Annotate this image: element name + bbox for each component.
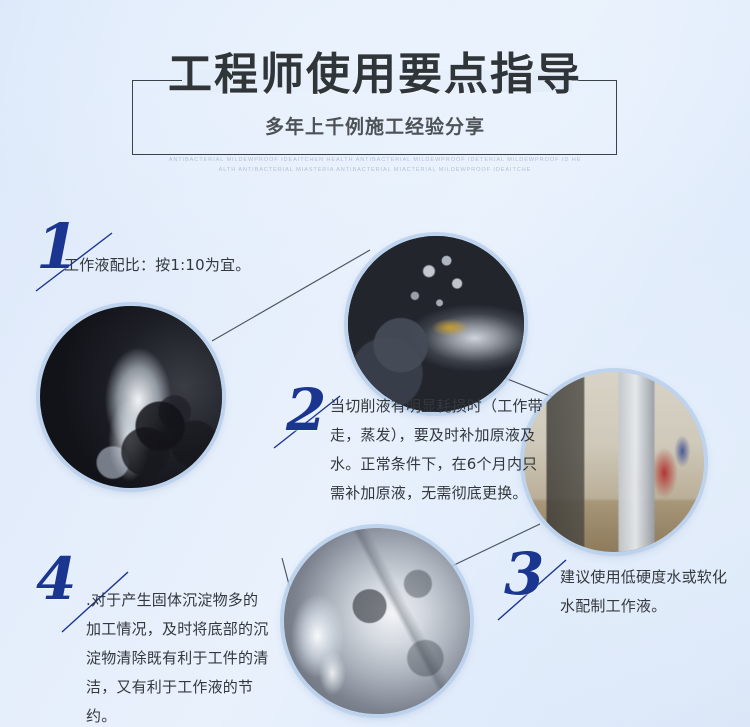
photo-circle-4-detail [284, 528, 470, 714]
step-text-3: 建议使用低硬度水或软化水配制工作液。 [560, 563, 738, 621]
photo-circle-1 [40, 306, 222, 488]
english-strapline-line-1: ANTIBACTERIAL MILDEWPROOF IDEAITCHEN HEA… [0, 156, 750, 166]
english-strapline-line-2: ALTH ANTIBACTERIAL MIASTERIA ANTIBACTERI… [0, 166, 750, 176]
page-subtitle: 多年上千例施工经验分享 [0, 112, 750, 139]
step-number-3: 3 [504, 545, 544, 603]
english-strapline: ANTIBACTERIAL MILDEWPROOF IDEAITCHEN HEA… [0, 156, 750, 176]
step-number-2: 2 [286, 381, 326, 439]
page-title: 工程师使用要点指导 [0, 52, 750, 98]
step-text-1: 工作液配比：按1:10为宜。 [64, 251, 324, 280]
photo-circle-4 [284, 528, 470, 714]
step-number-4: 4 [36, 550, 76, 608]
photo-circle-2-detail [348, 236, 524, 412]
photo-circle-3 [524, 372, 704, 552]
step-text-2: 当切削液有明显耗损时（工作带走，蒸发），要及时补加原液及水。正常条件下，在6个月… [330, 392, 544, 508]
photo-circle-2 [348, 236, 524, 412]
step-text-4: .对于产生固体沉淀物多的加工情况，及时将底部的沉淀物清除既有利于工件的清洁，又有… [86, 586, 270, 727]
infographic-page: 工程师使用要点指导 多年上千例施工经验分享 ANTIBACTERIAL MILD… [0, 0, 750, 727]
photo-circle-3-detail [524, 372, 704, 552]
photo-circle-1-detail [40, 306, 222, 488]
